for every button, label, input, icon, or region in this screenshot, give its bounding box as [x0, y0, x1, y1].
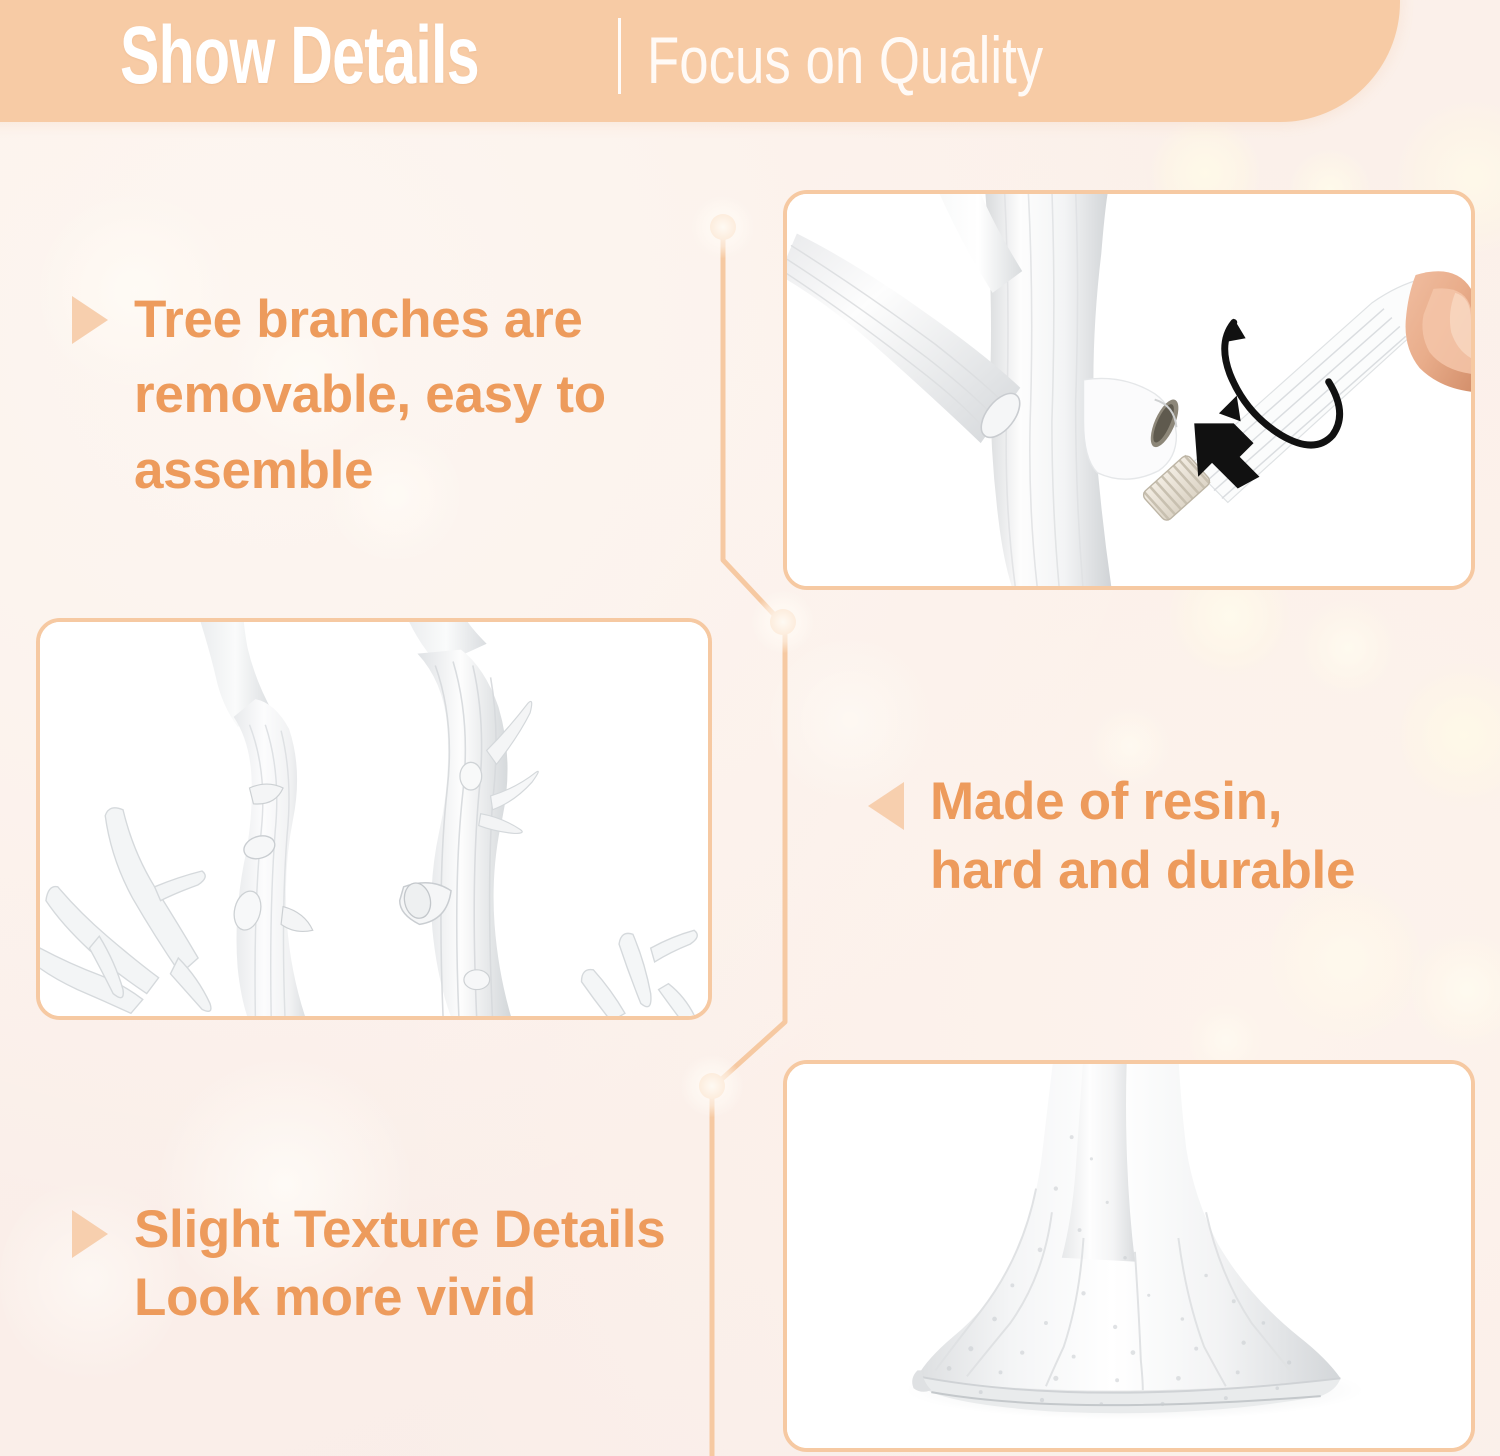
feature-texture: Slight Texture Details Look more vivid [72, 1196, 732, 1332]
infographic-canvas: Show Details Focus on Quality [0, 0, 1500, 1456]
page-title: Show Details [120, 18, 479, 93]
connector-node-bottom [699, 1073, 725, 1099]
feature-resin-label: Made of resin, hard and durable [930, 768, 1355, 906]
feature-removable: Tree branches are removable, easy to ass… [72, 282, 712, 508]
feature-resin: Made of resin, hard and durable [868, 768, 1468, 906]
photo-panel-texture[interactable] [36, 618, 712, 1020]
connector-path-lower [714, 622, 785, 1086]
header-banner-content: Show Details Focus on Quality [120, 18, 1143, 96]
photo-panel-base[interactable] [783, 1060, 1475, 1452]
feature-texture-label: Slight Texture Details Look more vivid [134, 1196, 665, 1332]
photo-panel-branch-screw[interactable] [783, 190, 1475, 590]
vertical-divider-icon [618, 18, 621, 94]
header-banner: Show Details Focus on Quality [0, 0, 1400, 122]
triangle-left-icon [868, 782, 904, 830]
connector-path-upper [723, 227, 781, 622]
bokeh-light [1300, 600, 1396, 696]
triangle-right-icon [72, 296, 108, 344]
connector-node-middle [770, 609, 796, 635]
triangle-right-icon [72, 1210, 108, 1258]
page-subtitle: Focus on Quality [647, 27, 1043, 93]
feature-removable-label: Tree branches are removable, easy to ass… [134, 282, 606, 508]
connector-node-top [710, 214, 736, 240]
bokeh-light [1412, 930, 1500, 1050]
photo-branch-screw [787, 194, 1471, 589]
photo-branch-texture [40, 622, 708, 1019]
photo-tree-base [787, 1064, 1471, 1451]
